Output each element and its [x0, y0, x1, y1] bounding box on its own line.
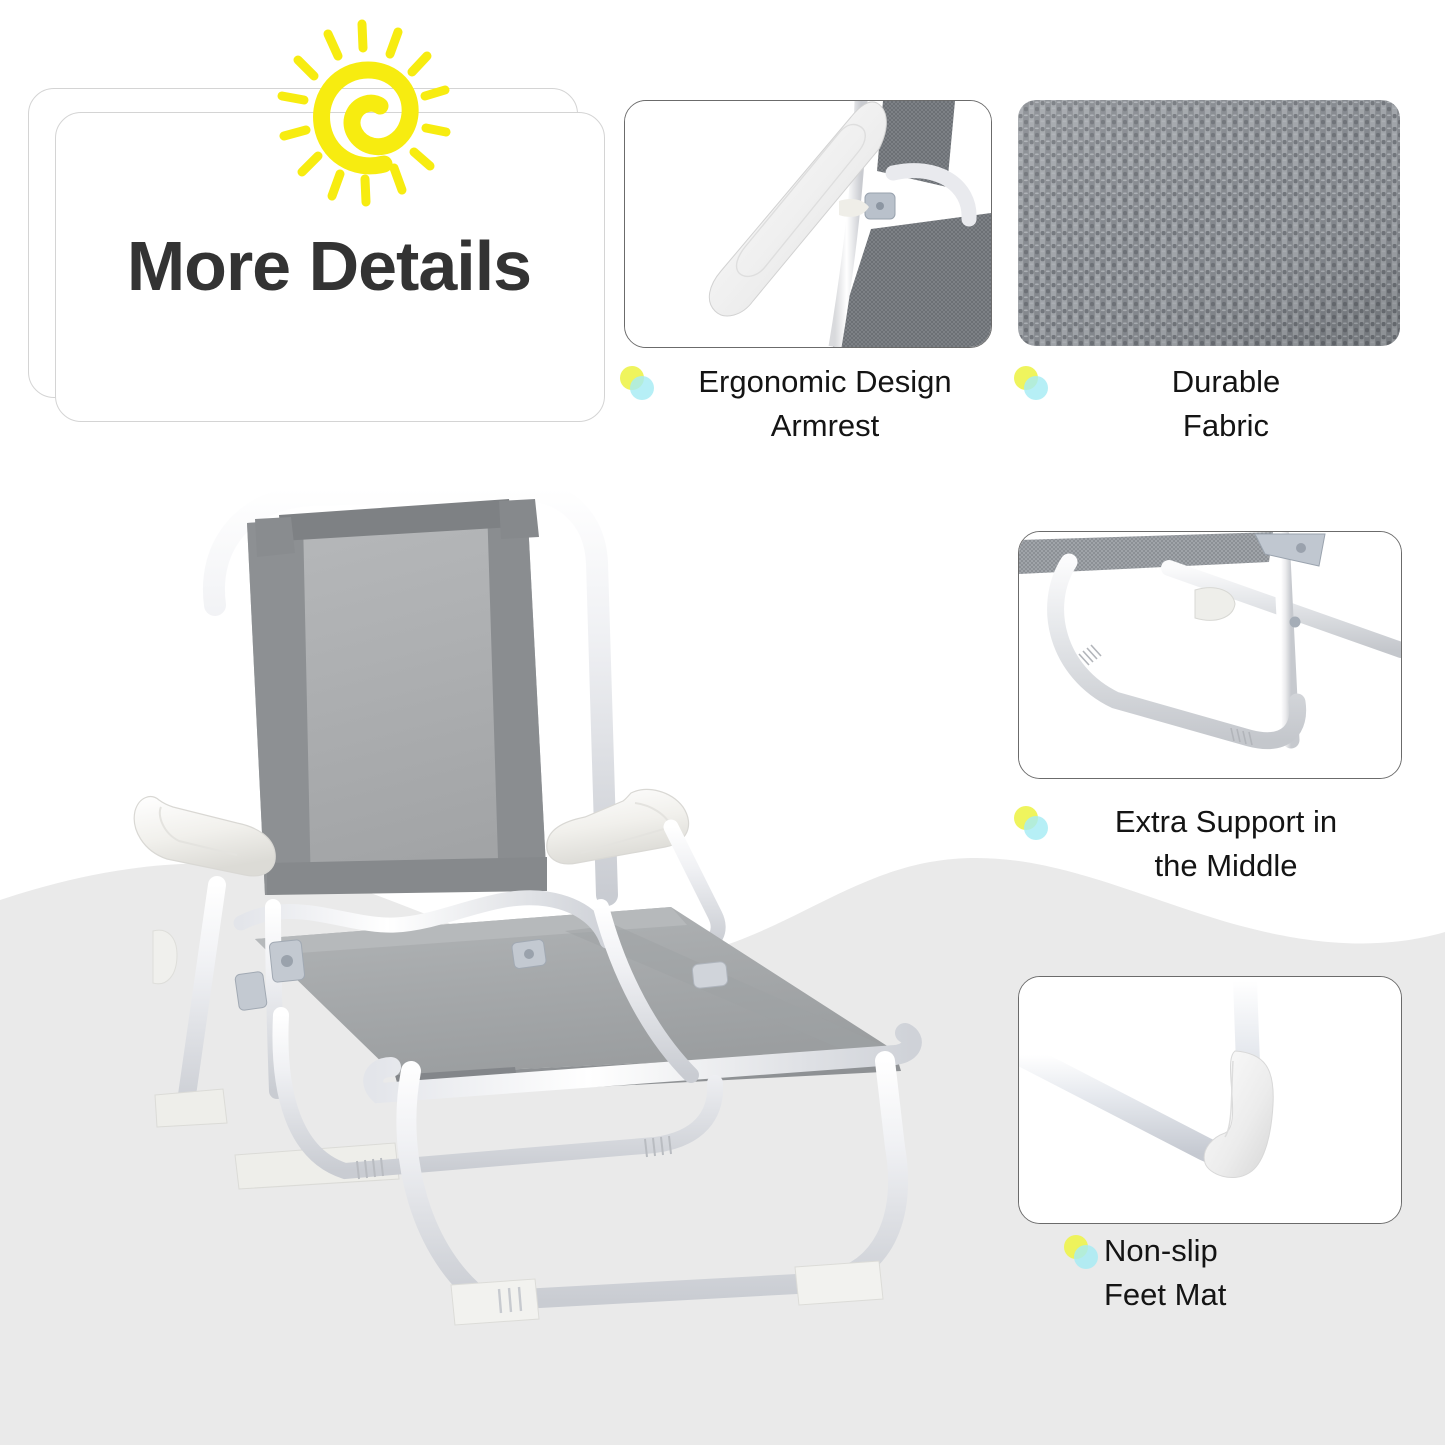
middle-support-bar-photo [1019, 532, 1401, 778]
feature-line2-feet: Feet Mat [1104, 1273, 1398, 1317]
feature-line1-fabric: Durable [1172, 364, 1281, 399]
feature-panel-fabric [1018, 100, 1400, 346]
feature-line2-support: the Middle [1054, 844, 1398, 888]
armrest-closeup-photo [625, 101, 991, 347]
feature-panel-armrest [624, 100, 990, 346]
feature-caption-text-support: Extra Support in the Middle [1054, 800, 1398, 888]
sun-doodle-icon [262, 14, 462, 214]
feature-caption-armrest: Ergonomic Design Armrest [620, 360, 996, 448]
feature-caption-support: Extra Support in the Middle [1014, 800, 1406, 888]
feature-panel-support [1018, 531, 1400, 777]
feature-line2-fabric: Fabric [1054, 404, 1398, 448]
woven-fabric-swatch-photo [1018, 100, 1400, 346]
bullet-dots-icon [1064, 1235, 1098, 1269]
product-image-lounger [95, 455, 995, 1375]
feature-line2-armrest: Armrest [660, 404, 990, 448]
feature-caption-text-armrest: Ergonomic Design Armrest [660, 360, 990, 448]
panel-frame-feet [1018, 976, 1402, 1224]
bullet-dots-icon [1014, 806, 1048, 840]
bullet-dots-icon [1014, 366, 1048, 400]
feature-caption-feet: Non-slip Feet Mat [1064, 1229, 1406, 1317]
infographic-stage: More Details [0, 0, 1445, 1445]
feature-line1-armrest: Ergonomic Design [698, 364, 951, 399]
panel-frame-support [1018, 531, 1402, 779]
feature-line1-feet: Non-slip [1104, 1233, 1218, 1268]
panel-frame-armrest [624, 100, 992, 348]
feature-caption-text-fabric: Durable Fabric [1054, 360, 1398, 448]
panel-frame-fabric [1018, 100, 1400, 346]
feature-caption-fabric: Durable Fabric [1014, 360, 1406, 448]
bullet-dots-icon [620, 366, 654, 400]
non-slip-foot-cap-photo [1019, 977, 1401, 1223]
feature-caption-text-feet: Non-slip Feet Mat [1104, 1229, 1398, 1317]
feature-panel-feet [1018, 976, 1400, 1222]
feature-line1-support: Extra Support in [1115, 804, 1337, 839]
